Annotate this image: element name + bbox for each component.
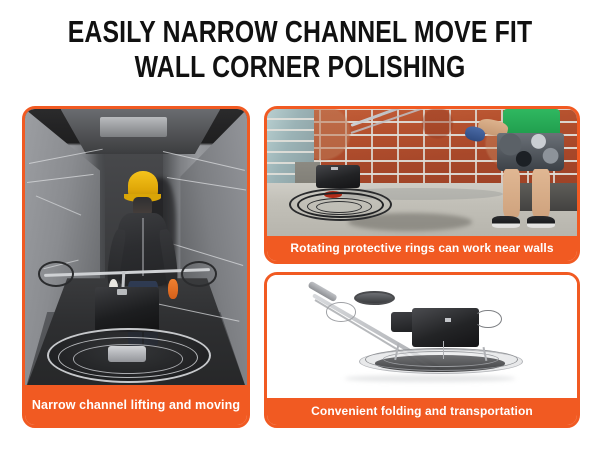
- engine-highlight: [117, 289, 127, 294]
- trowel-engine: [316, 165, 360, 188]
- feature-panel-narrow-channel: Narrow channel lifting and moving: [22, 106, 250, 428]
- trowel-adjust-knob: [354, 291, 394, 305]
- product-feature-graphic: EASILY NARROW CHANNEL MOVE FIT WALL CORN…: [0, 0, 600, 450]
- operator-shoe: [527, 216, 555, 229]
- engine-highlight: [331, 167, 338, 170]
- caption-narrow-channel: Narrow channel lifting and moving: [25, 385, 247, 425]
- trowel-handle-left: [38, 261, 74, 287]
- trowel-engine: [95, 287, 159, 332]
- trowel-cable-loop: [326, 302, 357, 322]
- power-trowel-machine: [47, 287, 207, 386]
- power-trowel-machine-folded: [292, 285, 552, 388]
- trowel-hose: [474, 310, 502, 329]
- trowel-engine: [412, 308, 480, 347]
- trowel-handle-right: [181, 261, 217, 287]
- operator-leg: [503, 169, 521, 217]
- operator-figure: [475, 109, 568, 236]
- title-line-2: WALL CORNER POLISHING: [60, 49, 540, 84]
- machine-shadow: [344, 375, 516, 382]
- caption-folding-transport: Convenient folding and transportation: [267, 398, 577, 425]
- corridor-scene: [25, 109, 247, 391]
- jacket-zipper: [142, 218, 144, 276]
- operator-leg: [532, 169, 550, 217]
- photo-near-walls: [267, 109, 577, 236]
- power-trowel-machine: [289, 165, 388, 221]
- trowel-hub: [108, 346, 146, 362]
- page-title: EASILY NARROW CHANNEL MOVE FIT WALL CORN…: [0, 14, 600, 84]
- title-line-1: EASILY NARROW CHANNEL MOVE FIT: [60, 14, 540, 49]
- brick-wall-scene: [267, 109, 577, 236]
- photo-narrow-channel: [25, 109, 247, 391]
- trowel-blade-ring-inner: [316, 201, 362, 213]
- caption-near-walls: Rotating protective rings can work near …: [267, 236, 577, 261]
- operator-camo-shorts: [497, 133, 564, 171]
- operator-shoe: [492, 216, 520, 229]
- feature-panel-near-walls: Rotating protective rings can work near …: [264, 106, 580, 264]
- trowel-strut: [443, 341, 445, 360]
- feature-panel-folding-transport: Convenient folding and transportation: [264, 272, 580, 428]
- photo-folding-transport: [267, 275, 577, 398]
- ceiling-duct: [100, 117, 167, 137]
- engine-highlight: [445, 318, 451, 322]
